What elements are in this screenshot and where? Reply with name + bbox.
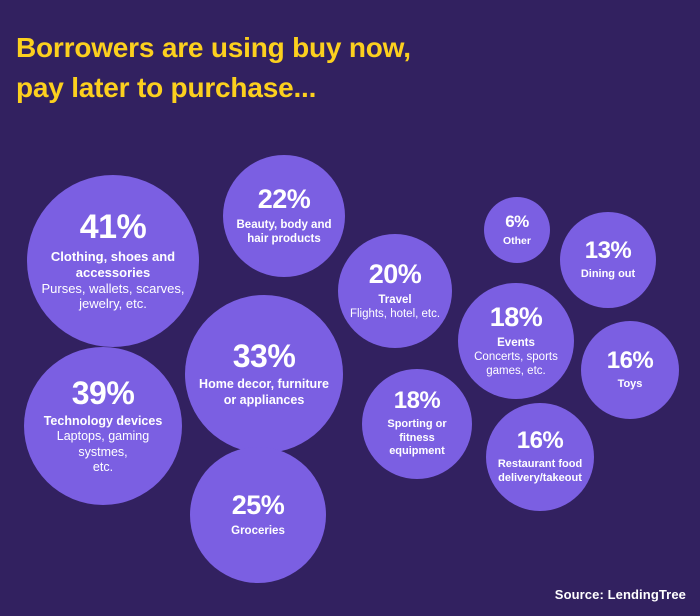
bubble-home-decor-furniture: 33%Home decor, furniture or appliances — [185, 295, 343, 453]
bubble-sublabel: Laptops, gaming systmes, etc. — [37, 429, 169, 475]
bubble-other: 6%Other — [484, 197, 550, 263]
bubble-sublabel: Flights, hotel, etc. — [350, 307, 440, 321]
bubble-label: Dining out — [581, 268, 635, 281]
bubble-toys: 16%Toys — [581, 321, 679, 419]
bubble-label: Clothing, shoes and accessories — [51, 249, 175, 281]
bubble-sublabel: Concerts, sports games, etc. — [474, 350, 558, 378]
bubble-percent: 18% — [490, 304, 543, 331]
bubble-beauty-body-and: 22%Beauty, body and hair products — [223, 155, 345, 277]
bubble-sublabel: Purses, wallets, scarves, jewelry, etc. — [41, 281, 184, 313]
bubble-percent: 6% — [505, 213, 529, 230]
bubble-travel: 20%TravelFlights, hotel, etc. — [338, 234, 452, 348]
bubble-percent: 22% — [258, 186, 311, 213]
bubble-label: Events — [497, 336, 535, 350]
bubble-events: 18%EventsConcerts, sports games, etc. — [458, 283, 574, 399]
bubble-percent: 13% — [585, 239, 632, 263]
source-credit: Source: LendingTree — [555, 587, 686, 602]
bubble-percent: 16% — [607, 349, 654, 373]
bubble-clothing-shoes-and: 41%Clothing, shoes and accessoriesPurses… — [27, 175, 199, 347]
bubble-percent: 20% — [369, 261, 422, 288]
bubble-label: Travel — [378, 293, 411, 307]
bubble-percent: 33% — [233, 340, 296, 372]
bubble-percent: 16% — [517, 429, 564, 453]
bubble-groceries: 25%Groceries — [190, 447, 326, 583]
bubble-label: Technology devices — [44, 414, 163, 429]
bubble-percent: 41% — [80, 210, 147, 244]
bubble-label: Home decor, furniture or appliances — [199, 377, 329, 408]
bubble-sporting-or-fitness: 18%Sporting or fitness equipment — [362, 369, 472, 479]
bubble-technology-devices: 39%Technology devicesLaptops, gaming sys… — [24, 347, 182, 505]
bubble-label: Sporting or fitness equipment — [371, 418, 463, 458]
bubble-percent: 25% — [232, 492, 285, 519]
bubble-restaurant-food: 16%Restaurant food delivery/takeout — [486, 403, 594, 511]
bubble-label: Restaurant food delivery/takeout — [498, 458, 582, 485]
bubble-label: Other — [503, 235, 531, 248]
page-title: Borrowers are using buy now, pay later t… — [16, 28, 656, 108]
infographic-canvas: Borrowers are using buy now, pay later t… — [0, 0, 700, 616]
bubble-label: Toys — [618, 378, 643, 391]
bubble-dining-out: 13%Dining out — [560, 212, 656, 308]
bubble-percent: 18% — [394, 389, 441, 413]
bubble-percent: 39% — [72, 377, 135, 409]
bubble-label: Groceries — [231, 524, 285, 538]
bubble-label: Beauty, body and hair products — [237, 218, 332, 246]
